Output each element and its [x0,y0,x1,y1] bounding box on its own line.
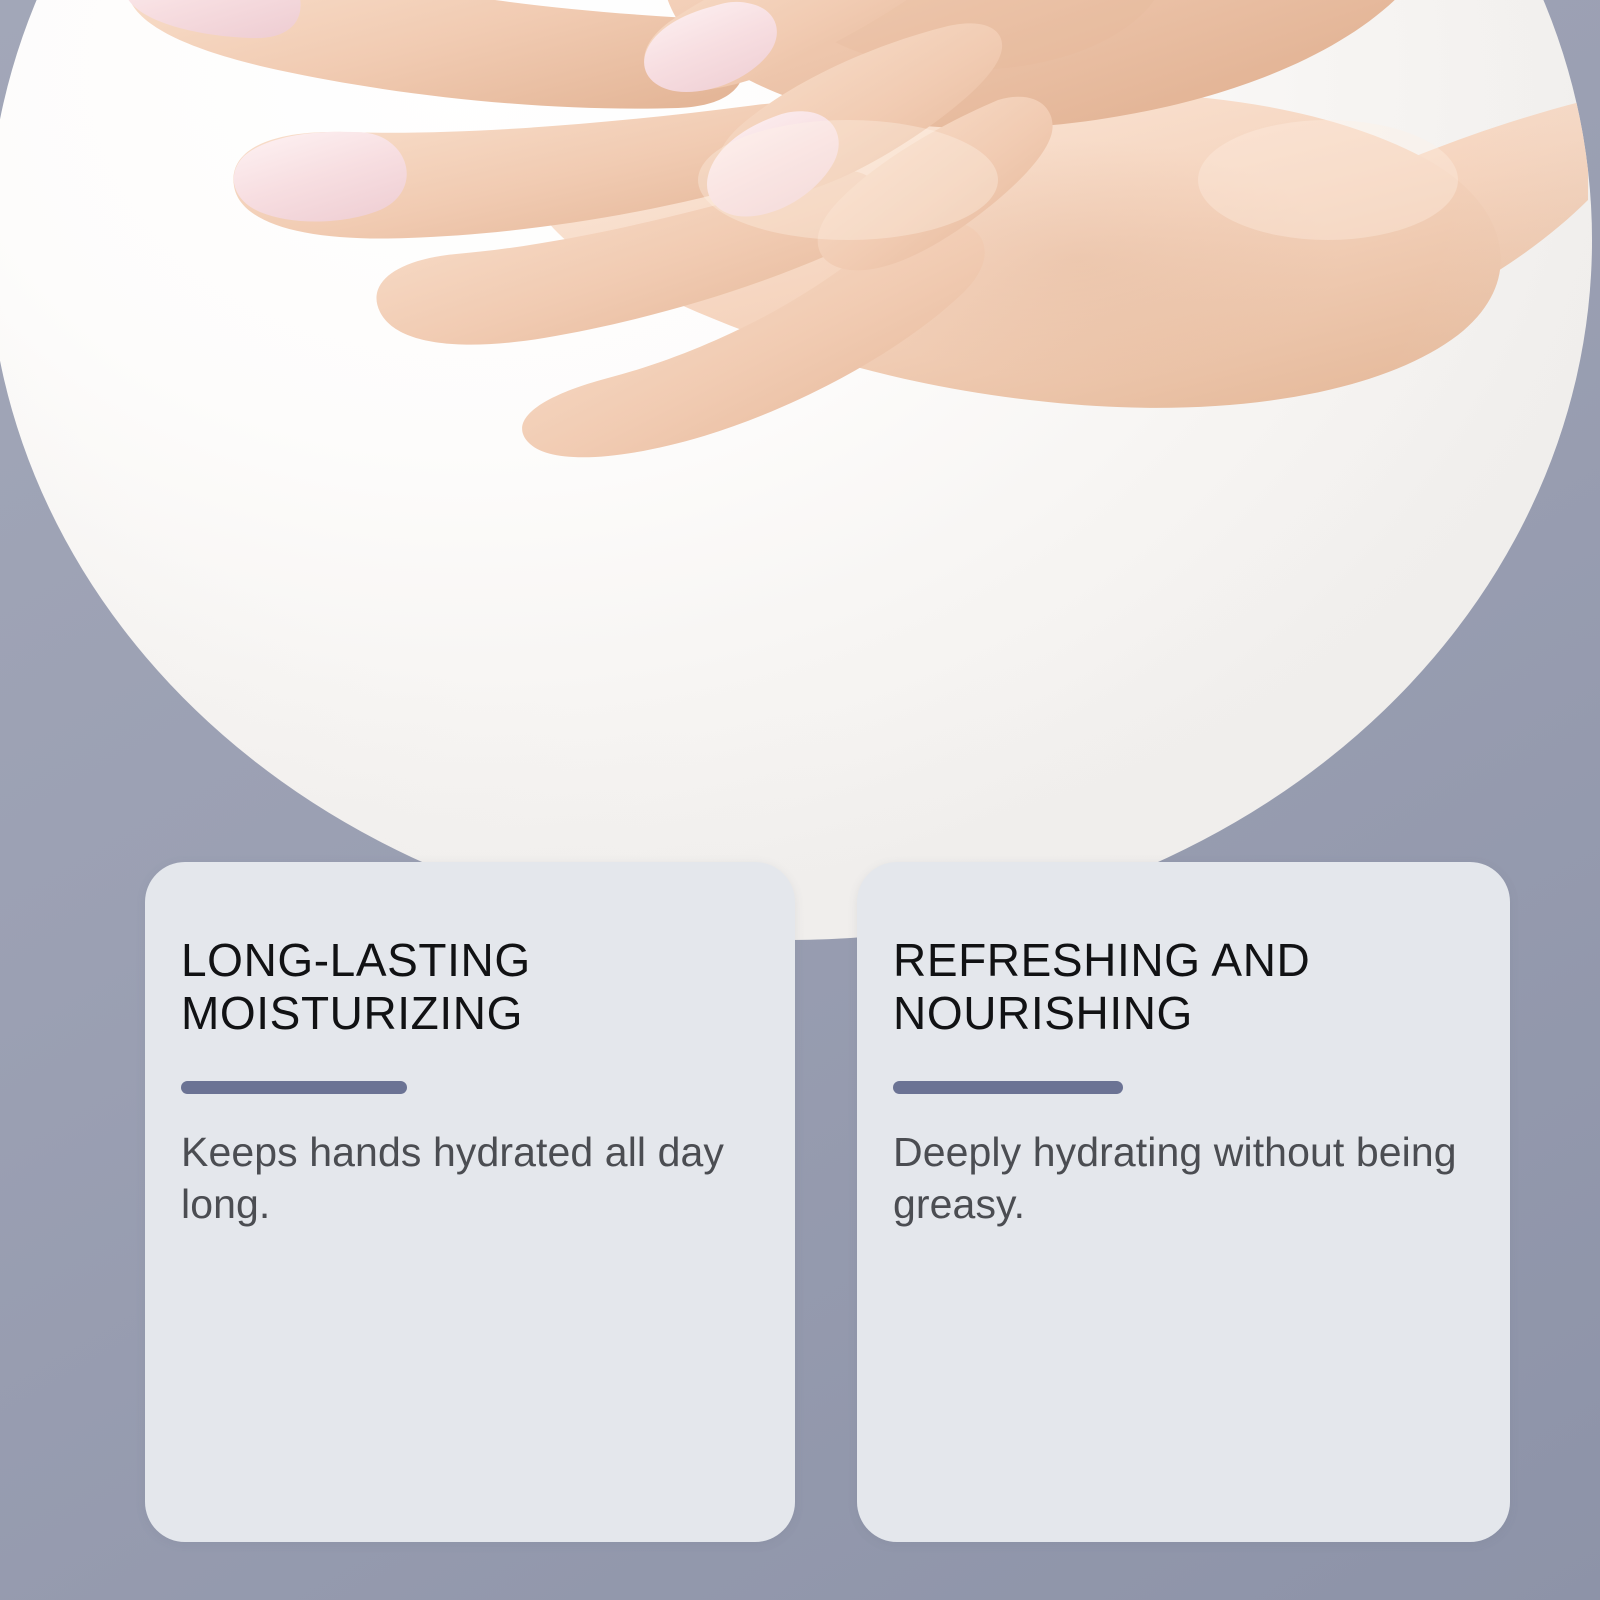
title-underline-rule [181,1081,407,1094]
hero-circle-panel [0,0,1592,940]
feature-card-body: Keeps hands hydrated all day long. [181,1126,753,1231]
title-underline-rule [893,1081,1123,1094]
product-feature-banner: LONG-LASTING MOISTURIZING Keeps hands hy… [0,0,1600,1600]
hands-applying-cream-image [0,0,1588,940]
feature-card-title: REFRESHING AND NOURISHING [893,934,1468,1041]
feature-card-refreshing-and-nourishing: REFRESHING AND NOURISHING Deeply hydrati… [857,862,1510,1542]
feature-card-long-lasting-moisturizing: LONG-LASTING MOISTURIZING Keeps hands hy… [145,862,795,1542]
feature-card-title: LONG-LASTING MOISTURIZING [181,934,753,1041]
feature-card-body: Deeply hydrating without being greasy. [893,1126,1468,1231]
